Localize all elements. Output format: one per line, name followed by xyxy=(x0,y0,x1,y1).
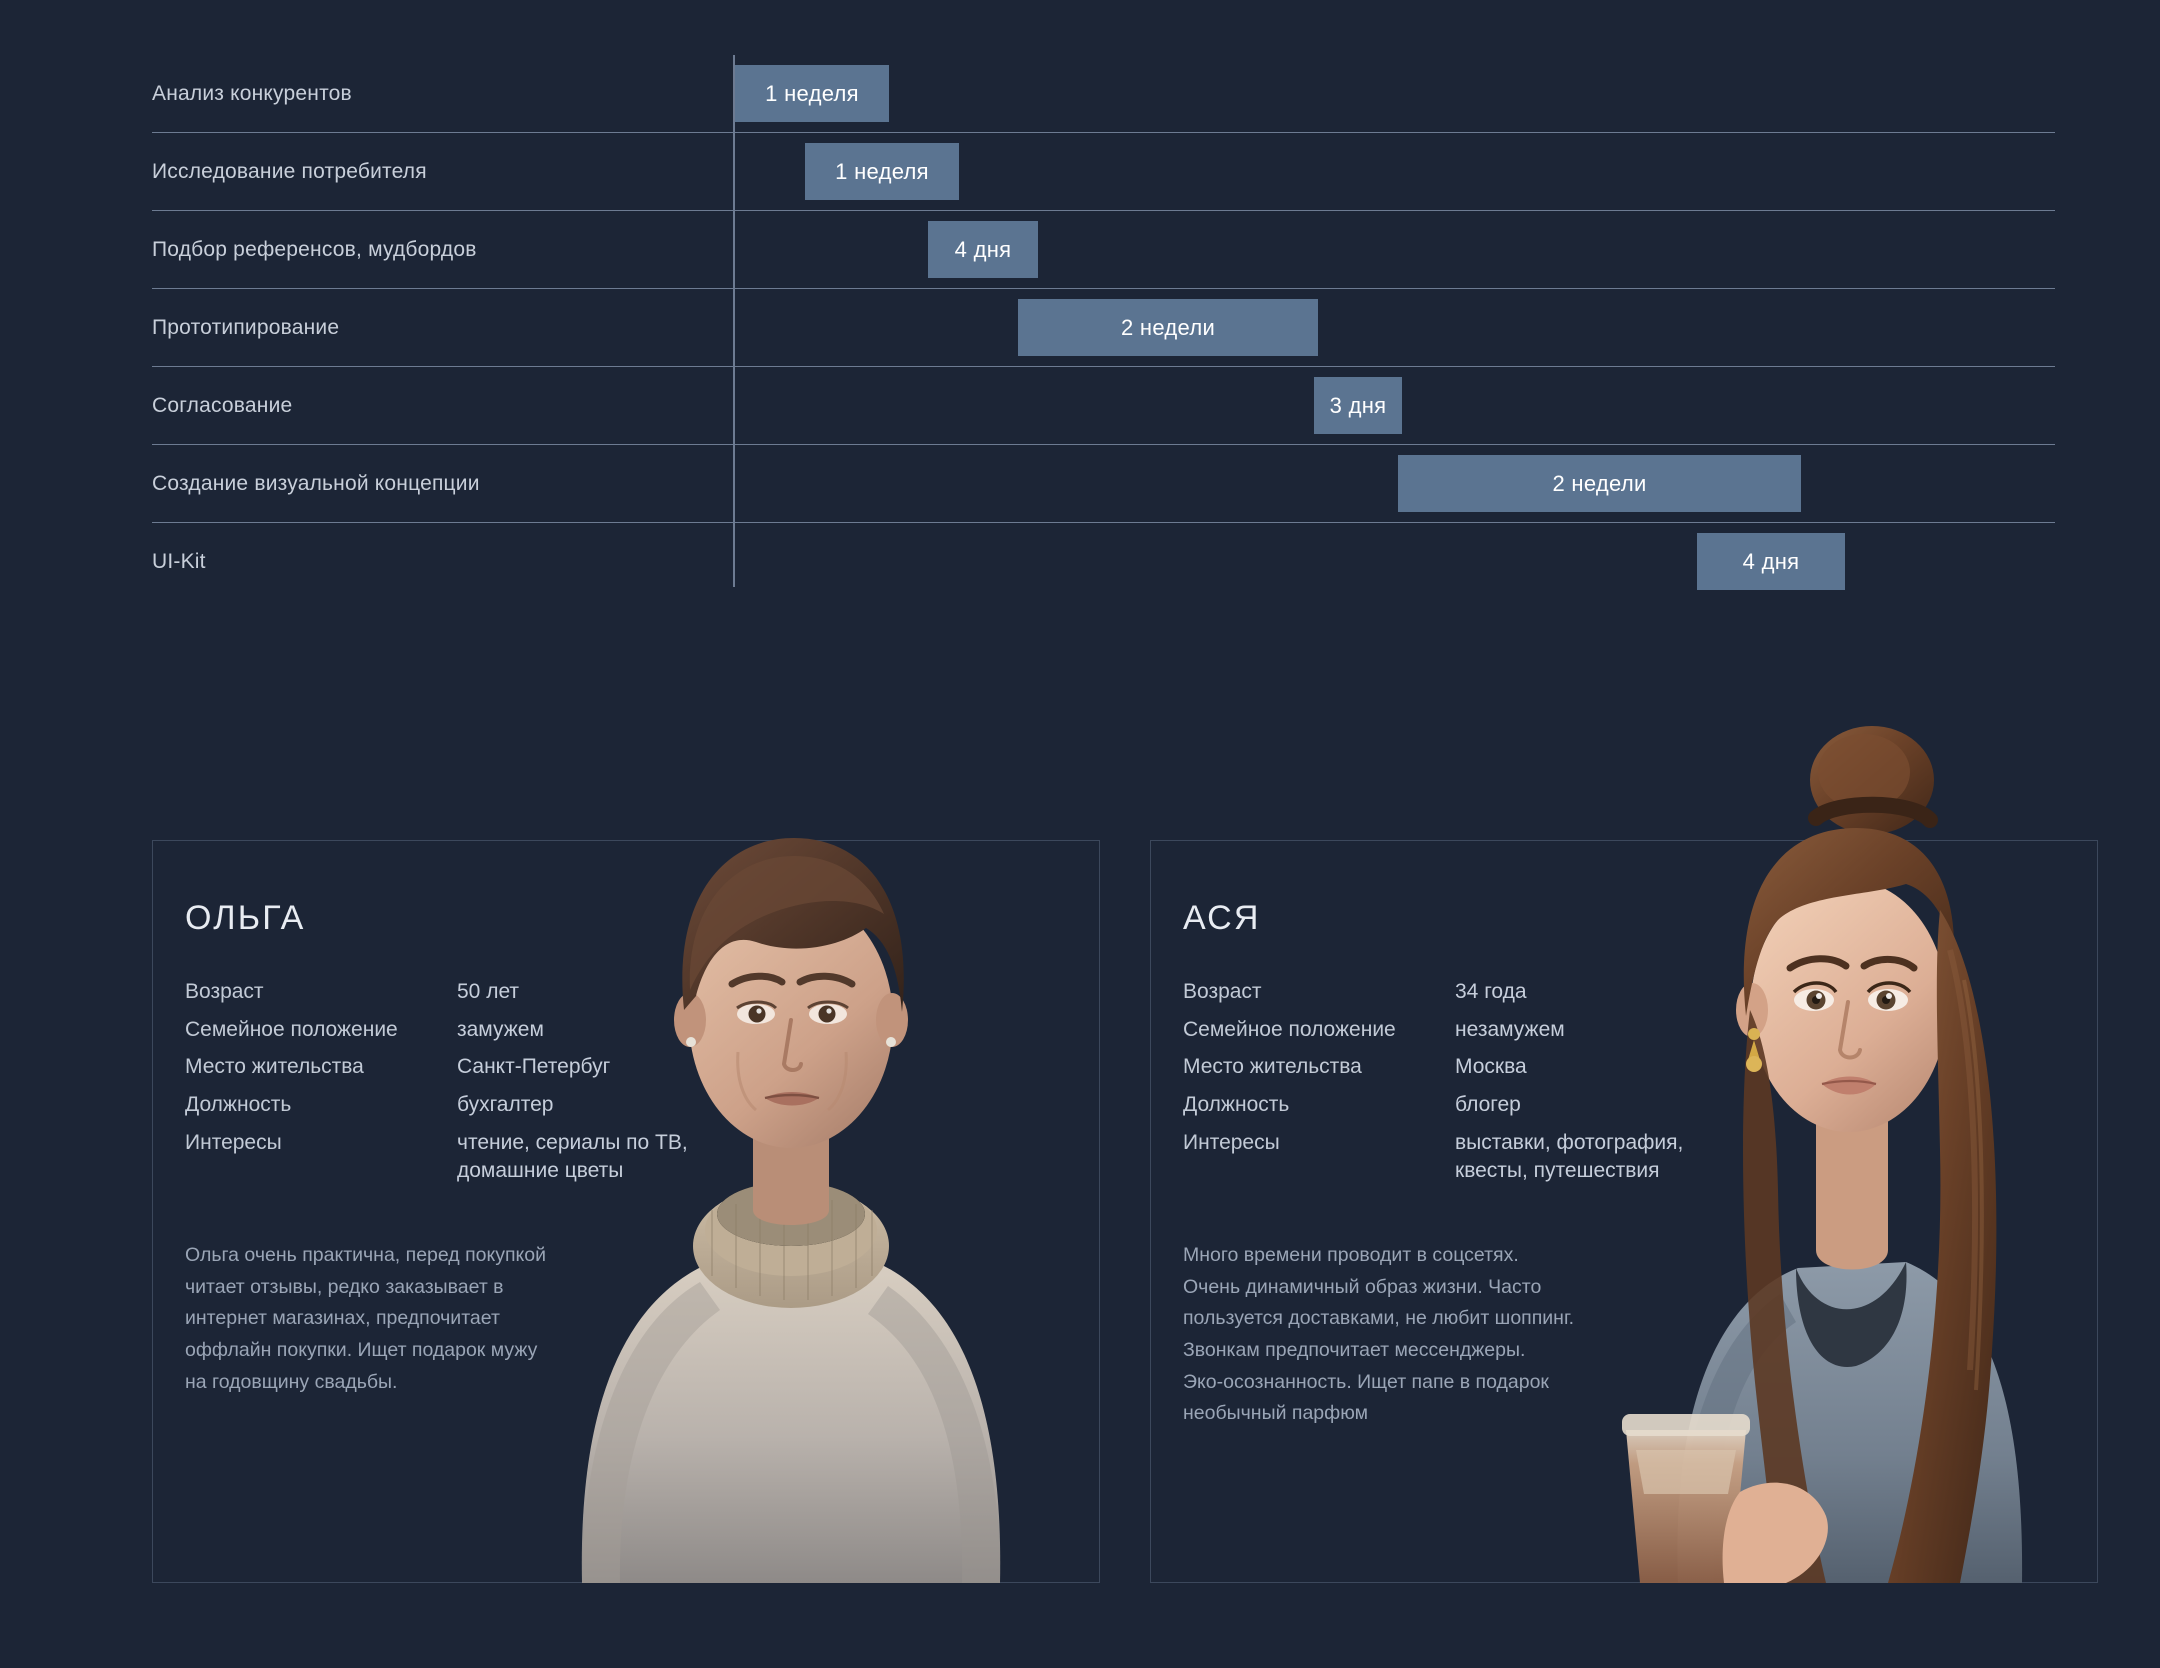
gantt-bar[interactable]: 4 дня xyxy=(1697,533,1845,590)
persona-card-olga: ОЛЬГА Возраст 50 лет Семейное положение … xyxy=(152,840,1100,1583)
gantt-row: Подбор референсов, мудбордов 4 дня xyxy=(152,211,2055,289)
gantt-task-label: Прототипирование xyxy=(152,289,339,367)
slide-root: Анализ конкурентов 1 неделя Исследование… xyxy=(0,0,2160,1668)
gantt-row: Создание визуальной концепции 2 недели xyxy=(152,445,2055,523)
attribute-value: 50 лет xyxy=(457,978,688,1016)
persona-card-asya: АСЯ Возраст 34 года Семейное положение н… xyxy=(1150,840,2098,1583)
persona-description: Много времени проводит в соцсетях. Очень… xyxy=(1183,1240,1635,1429)
gantt-row: Согласование 3 дня xyxy=(152,367,2055,445)
table-row: Возраст 34 года xyxy=(1183,978,1683,1016)
table-row: Возраст 50 лет xyxy=(185,978,688,1016)
attribute-label: Место жительства xyxy=(185,1053,457,1091)
attribute-label: Возраст xyxy=(185,978,457,1016)
attribute-label: Семейное положение xyxy=(185,1016,457,1054)
gantt-task-label: Анализ конкурентов xyxy=(152,55,352,133)
table-row: Должность блогер xyxy=(1183,1091,1683,1129)
attribute-value: замужем xyxy=(457,1016,688,1054)
attribute-label: Должность xyxy=(185,1091,457,1129)
gantt-task-label: Подбор референсов, мудбордов xyxy=(152,211,477,289)
attribute-value: Санкт-Петербуг xyxy=(457,1053,688,1091)
attribute-label: Возраст xyxy=(1183,978,1455,1016)
gantt-bar[interactable]: 2 недели xyxy=(1398,455,1801,512)
persona-attributes-table: Возраст 34 года Семейное положение незам… xyxy=(1183,978,1683,1194)
gantt-bar[interactable]: 4 дня xyxy=(928,221,1038,278)
table-row: Семейное положение незамужем xyxy=(1183,1016,1683,1054)
attribute-value: выставки, фотография, квесты, путешестви… xyxy=(1455,1129,1683,1194)
persona-description: Ольга очень практична, перед покупкой чи… xyxy=(185,1240,637,1398)
attribute-label: Семейное положение xyxy=(1183,1016,1455,1054)
attribute-value: 34 года xyxy=(1455,978,1683,1016)
gantt-chart: Анализ конкурентов 1 неделя Исследование… xyxy=(152,55,2055,610)
attribute-value: блогер xyxy=(1455,1091,1683,1129)
attribute-label: Должность xyxy=(1183,1091,1455,1129)
table-row: Должность бухгалтер xyxy=(185,1091,688,1129)
table-row: Семейное положение замужем xyxy=(185,1016,688,1054)
table-row: Место жительства Москва xyxy=(1183,1053,1683,1091)
persona-attributes-table: Возраст 50 лет Семейное положение замуже… xyxy=(185,978,688,1194)
gantt-task-label: Исследование потребителя xyxy=(152,133,427,211)
persona-content: ОЛЬГА Возраст 50 лет Семейное положение … xyxy=(153,841,1099,1398)
attribute-value: бухгалтер xyxy=(457,1091,688,1129)
persona-content: АСЯ Возраст 34 года Семейное положение н… xyxy=(1151,841,2097,1430)
attribute-label: Интересы xyxy=(185,1129,457,1194)
attribute-value: чтение, сериалы по ТВ, домашние цветы xyxy=(457,1129,688,1194)
gantt-bar[interactable]: 1 неделя xyxy=(805,143,959,200)
gantt-row: UI-Kit 4 дня xyxy=(152,523,2055,601)
gantt-row: Анализ конкурентов 1 неделя xyxy=(152,55,2055,133)
table-row: Место жительства Санкт-Петербуг xyxy=(185,1053,688,1091)
attribute-label: Место жительства xyxy=(1183,1053,1455,1091)
persona-name: ОЛЬГА xyxy=(185,899,1099,938)
table-row: Интересы чтение, сериалы по ТВ, домашние… xyxy=(185,1129,688,1194)
gantt-task-label: Согласование xyxy=(152,367,292,445)
gantt-task-label: UI-Kit xyxy=(152,523,206,601)
gantt-bar[interactable]: 2 недели xyxy=(1018,299,1318,356)
attribute-label: Интересы xyxy=(1183,1129,1455,1194)
gantt-bar[interactable]: 1 неделя xyxy=(735,65,889,122)
persona-name: АСЯ xyxy=(1183,899,2097,938)
gantt-task-label: Создание визуальной концепции xyxy=(152,445,480,523)
gantt-row: Исследование потребителя 1 неделя xyxy=(152,133,2055,211)
gantt-row: Прототипирование 2 недели xyxy=(152,289,2055,367)
table-row: Интересы выставки, фотография, квесты, п… xyxy=(1183,1129,1683,1194)
gantt-bar[interactable]: 3 дня xyxy=(1314,377,1402,434)
attribute-value: Москва xyxy=(1455,1053,1683,1091)
attribute-value: незамужем xyxy=(1455,1016,1683,1054)
